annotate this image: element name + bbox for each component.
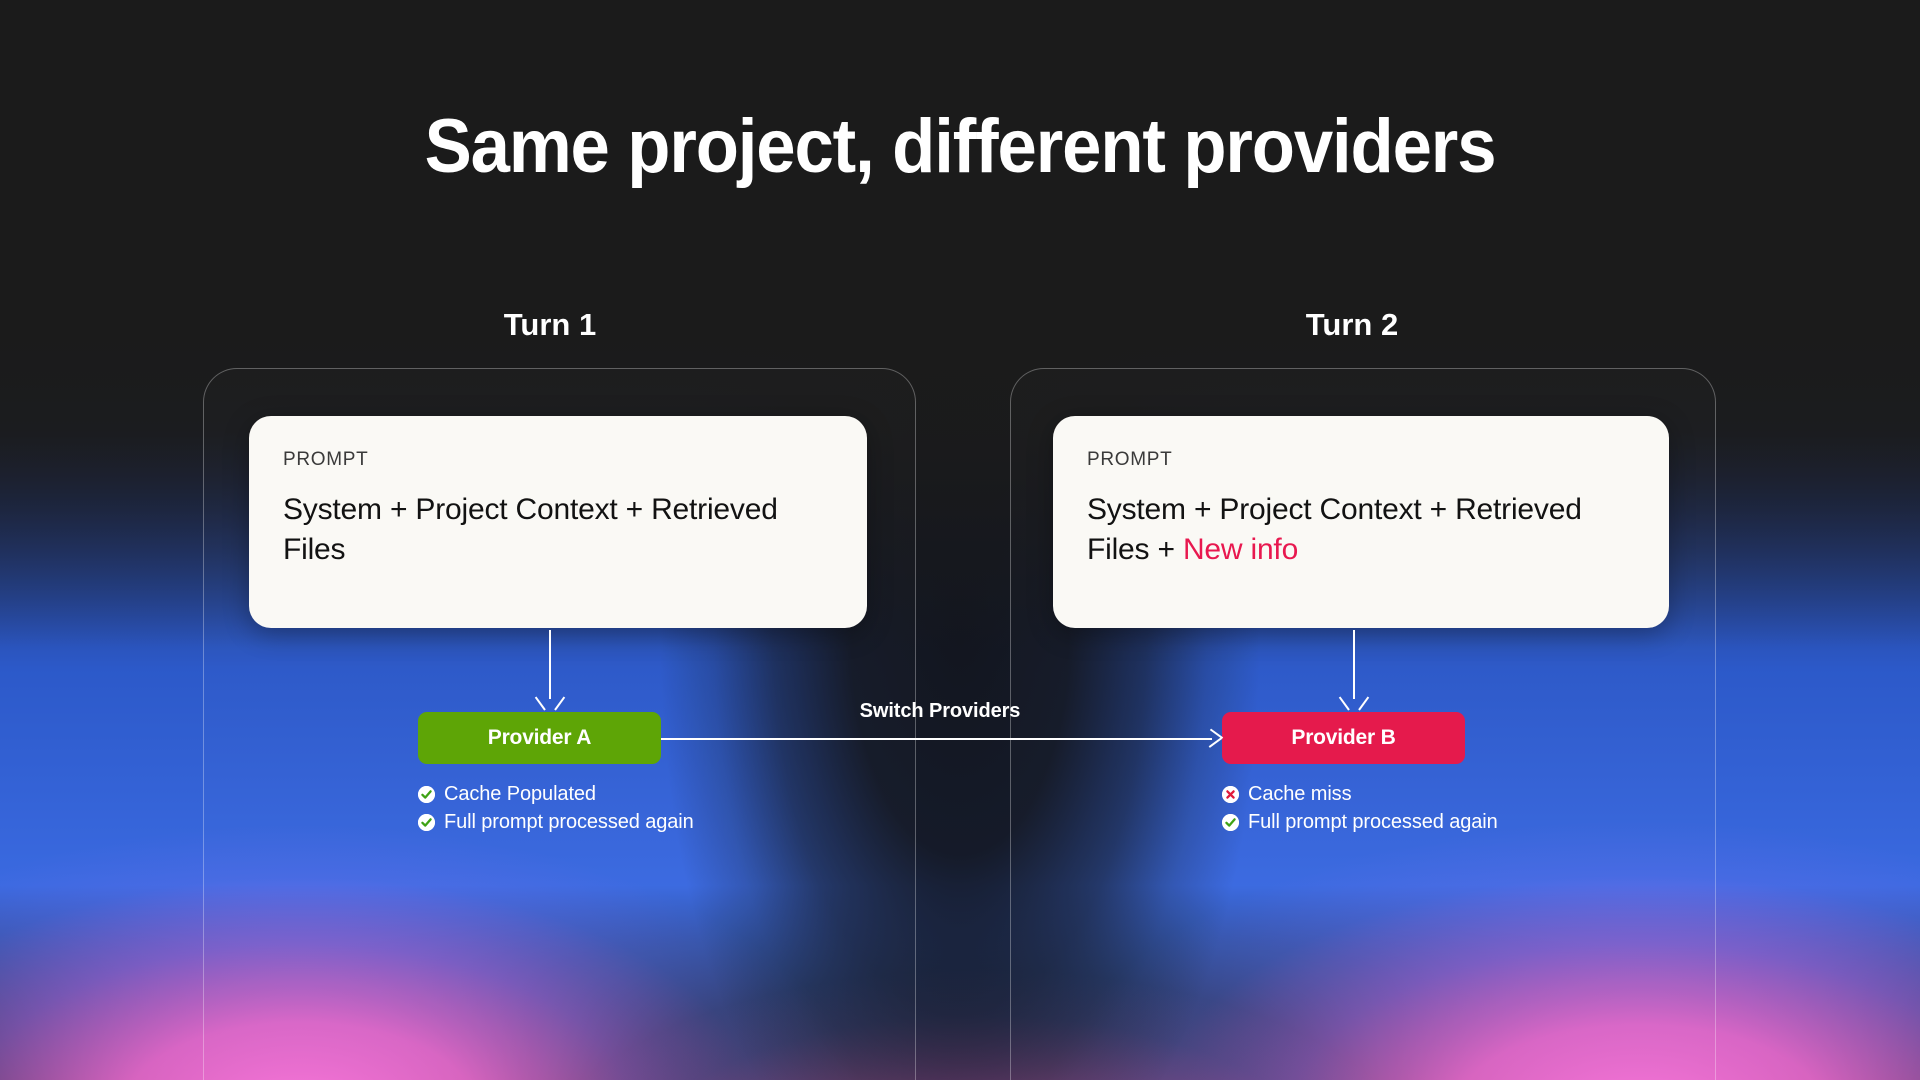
status-list-turn-2: Cache miss Full prompt processed again — [1222, 782, 1498, 838]
provider-b-label: Provider B — [1291, 726, 1395, 750]
prompt-body-text-1: System + Project Context + Retrieved Fil… — [283, 493, 778, 566]
arrow-head-down-icon — [541, 697, 559, 710]
flow-arrow-down-1 — [541, 630, 559, 710]
check-circle-icon — [418, 786, 435, 803]
switch-providers-arrow — [661, 731, 1222, 747]
check-circle-icon — [418, 814, 435, 831]
prompt-body-2: System + Project Context + Retrieved Fil… — [1087, 490, 1635, 570]
status-label: Full prompt processed again — [444, 810, 694, 835]
turn-label-2: Turn 2 — [1222, 305, 1482, 345]
provider-b-node[interactable]: Provider B — [1222, 712, 1465, 764]
diagram-canvas: Same project, different providers Turn 1… — [0, 0, 1920, 1080]
arrow-shaft — [661, 738, 1212, 740]
prompt-body-text-2: System + Project Context + Retrieved Fil… — [1087, 493, 1582, 566]
prompt-body-highlight-2: New info — [1183, 533, 1298, 566]
status-list-turn-1: Cache Populated Full prompt processed ag… — [418, 782, 694, 838]
provider-a-label: Provider A — [488, 726, 591, 750]
status-label: Cache miss — [1248, 782, 1351, 807]
turn-label-1: Turn 1 — [420, 305, 680, 345]
prompt-body-1: System + Project Context + Retrieved Fil… — [283, 490, 833, 570]
page-title: Same project, different providers — [67, 104, 1853, 190]
prompt-card-turn-2: PROMPT System + Project Context + Retrie… — [1053, 416, 1669, 628]
status-label: Full prompt processed again — [1248, 810, 1498, 835]
list-item: Cache Populated — [418, 782, 694, 807]
check-circle-icon — [1222, 814, 1239, 831]
prompt-kicker-2: PROMPT — [1087, 448, 1635, 472]
list-item: Full prompt processed again — [1222, 810, 1498, 835]
switch-providers-label: Switch Providers — [790, 700, 1090, 723]
prompt-kicker-1: PROMPT — [283, 448, 833, 472]
prompt-card-turn-1: PROMPT System + Project Context + Retrie… — [249, 416, 867, 628]
status-label: Cache Populated — [444, 782, 596, 807]
list-item: Cache miss — [1222, 782, 1498, 807]
arrow-head-down-icon — [1345, 697, 1363, 710]
provider-a-node[interactable]: Provider A — [418, 712, 661, 764]
list-item: Full prompt processed again — [418, 810, 694, 835]
x-circle-icon — [1222, 786, 1239, 803]
arrow-shaft — [549, 630, 551, 699]
arrow-shaft — [1353, 630, 1355, 699]
flow-arrow-down-2 — [1345, 630, 1363, 710]
arrow-head-right-icon — [1206, 731, 1222, 747]
